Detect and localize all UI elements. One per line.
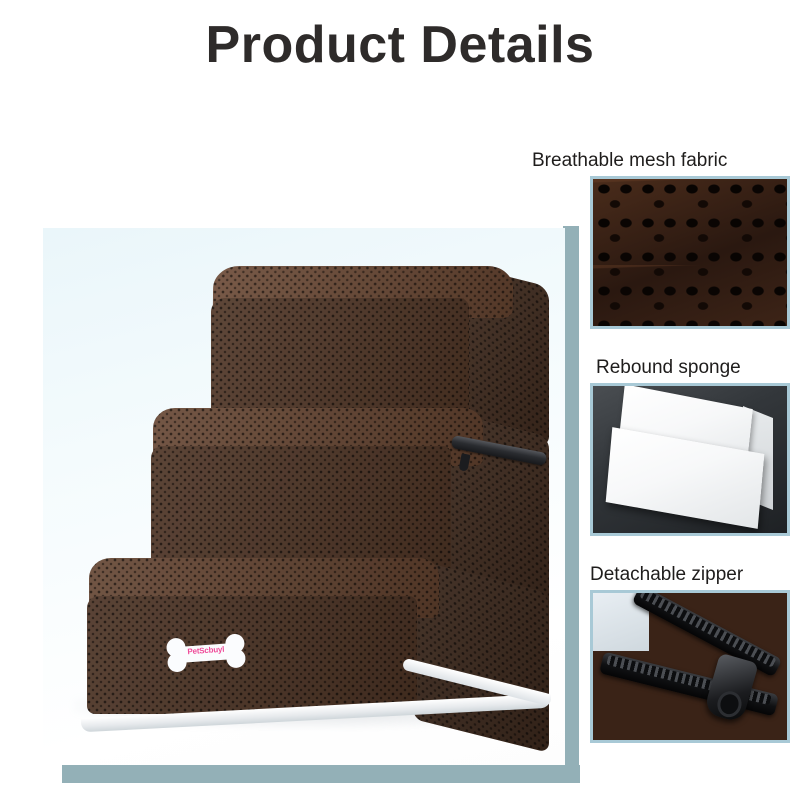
step-1-front xyxy=(87,596,417,714)
page-title: Product Details xyxy=(0,16,800,76)
mesh-fabric-swatch xyxy=(590,176,790,329)
mesh-fabric-texture xyxy=(593,179,787,326)
zipper-teeth-upper xyxy=(639,590,776,668)
sponge-photo xyxy=(593,386,787,533)
feature-label-breathable-mesh-fabric: Breathable mesh fabric xyxy=(532,150,727,173)
accent-bar-vertical xyxy=(563,226,579,782)
pet-stairs-product-photo: PetScbuyl xyxy=(43,228,565,765)
feature-label-rebound-sponge: Rebound sponge xyxy=(596,357,741,380)
feature-label-detachable-zipper: Detachable zipper xyxy=(590,564,743,587)
rebound-sponge-swatch xyxy=(590,383,790,536)
zipper-photo xyxy=(593,593,787,740)
pet-stairs-illustration: PetScbuyl xyxy=(61,258,551,728)
zipper-slider-icon xyxy=(703,653,759,724)
detachable-zipper-swatch xyxy=(590,590,790,743)
bone-brand-tag: PetScbuyl xyxy=(165,631,247,674)
accent-bar-horizontal xyxy=(62,765,580,783)
